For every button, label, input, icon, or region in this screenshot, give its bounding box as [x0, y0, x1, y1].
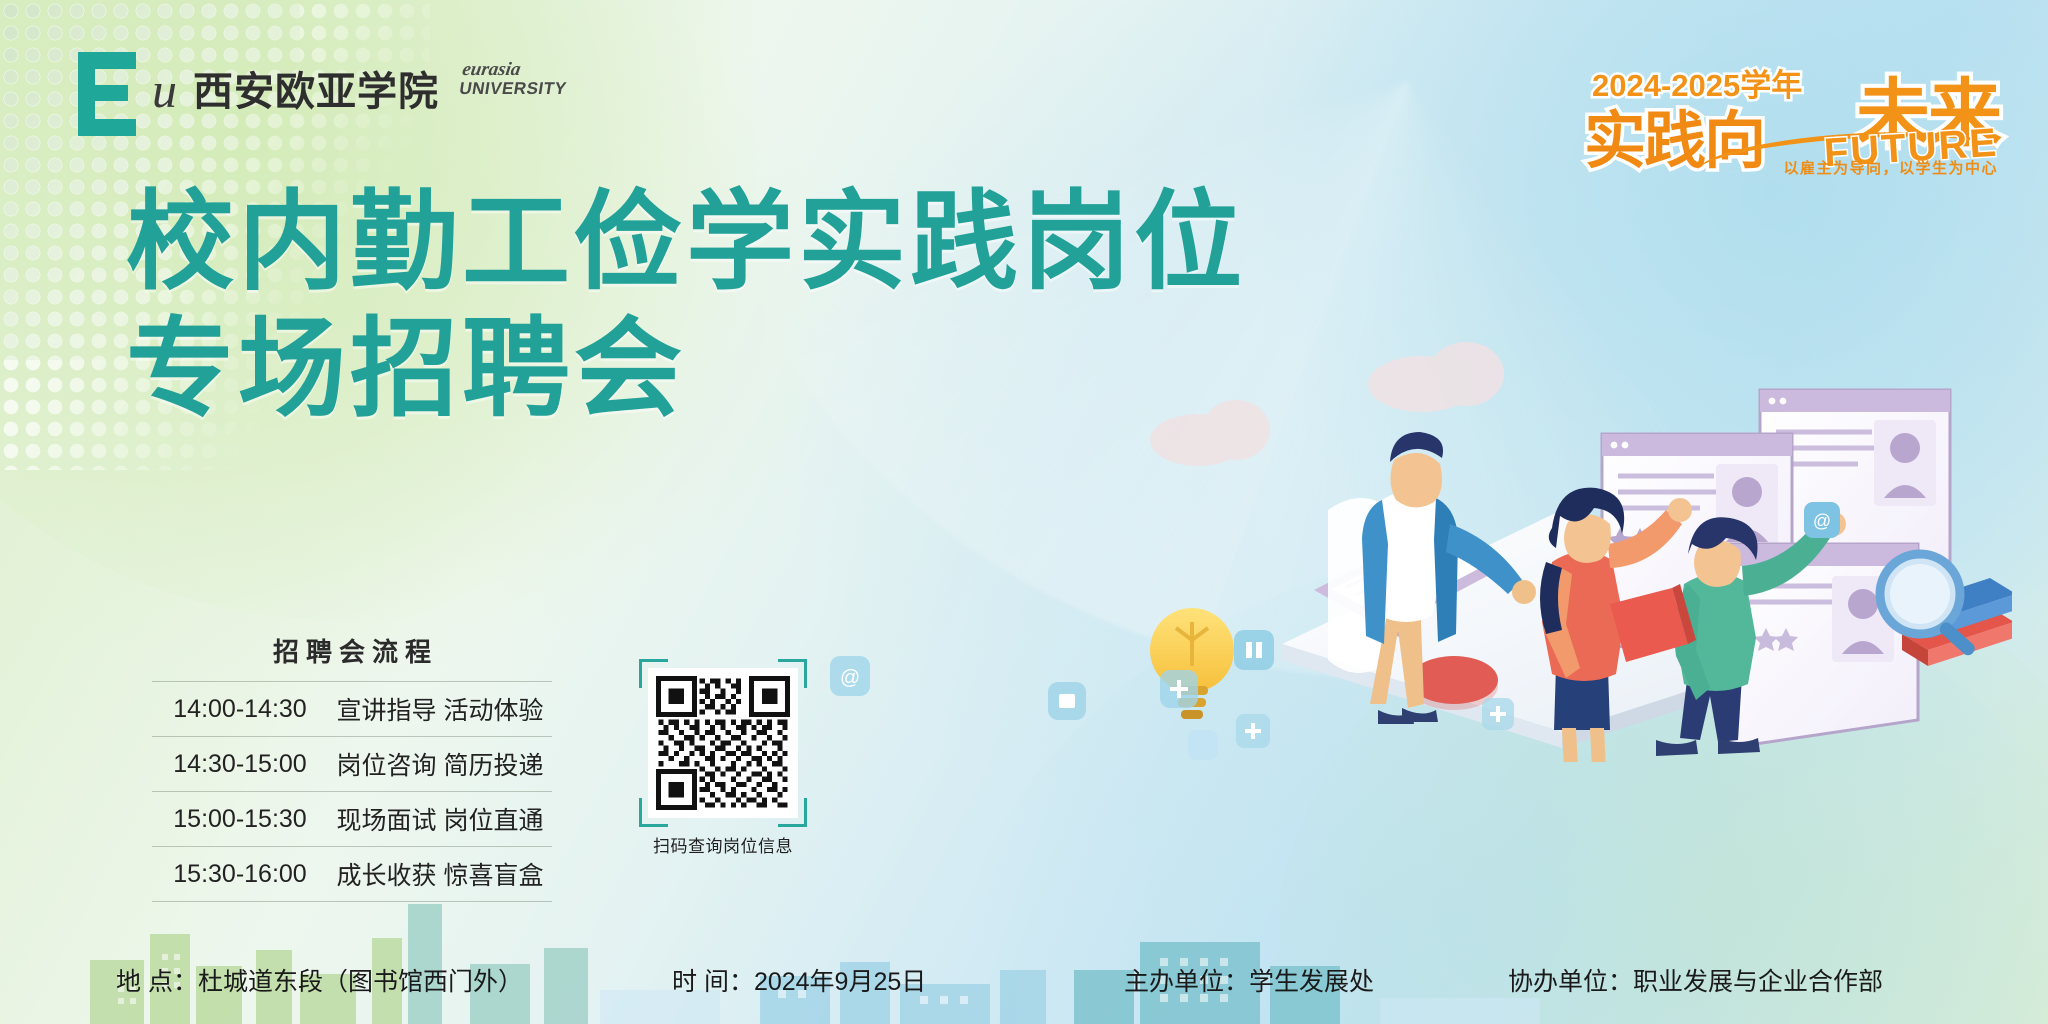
logo-e-mark: [78, 52, 136, 136]
schedule-time: 15:30-16:00: [152, 847, 328, 902]
svg-text:@: @: [840, 667, 860, 689]
footer-location: 地 点：杜城道东段（图书馆西门外）: [116, 962, 523, 998]
schedule-content: 现场面试 岗位直通: [328, 792, 552, 847]
schedule-time: 14:30-15:00: [152, 737, 328, 792]
schedule-block: 招聘会流程 14:00-14:30 宣讲指导 活动体验 14:30-15:00 …: [152, 632, 552, 902]
university-logo: u 西安欧亚学院 eurasia UNIVERSITY: [78, 52, 568, 136]
table-row: 14:00-14:30 宣讲指导 活动体验: [152, 682, 552, 737]
cloud-icon: [1150, 342, 1504, 466]
page-title-line2: 专场招聘会: [126, 305, 1246, 432]
footer-cohost: 协办单位：职业发展与企业合作部: [1508, 962, 1883, 998]
page-title-line1: 校内勤工俭学实践岗位: [126, 178, 1246, 305]
hero-illustration: @: [1132, 262, 2012, 762]
schedule-content: 宣讲指导 活动体验: [328, 682, 552, 737]
schedule-time: 14:00-14:30: [152, 682, 328, 737]
schedule-time: 15:00-15:30: [152, 792, 328, 847]
schedule-table: 14:00-14:30 宣讲指导 活动体验 14:30-15:00 岗位咨询 简…: [152, 681, 552, 902]
footer-bar: 地 点：杜城道东段（图书馆西门外） 时 间：2024年9月25日 主办单位：学生…: [0, 928, 2048, 1024]
qr-block: 扫码查询岗位信息: [640, 668, 806, 857]
schedule-heading: 招聘会流程: [152, 632, 552, 669]
logo-name-cn: 西安欧亚学院: [193, 72, 439, 112]
table-row: 15:00-15:30 现场面试 岗位直通: [152, 792, 552, 847]
footer-time: 时 间：2024年9月25日: [672, 962, 926, 998]
schedule-content: 岗位咨询 简历投递: [328, 737, 552, 792]
footer-host: 主办单位：学生发展处: [1124, 962, 1374, 998]
logo-name-en-line1: eurasia: [461, 60, 571, 80]
page-title: 校内勤工俭学实践岗位 专场招聘会: [126, 178, 1246, 433]
qr-caption: 扫码查询岗位信息: [640, 832, 806, 857]
logo-name-en-line2: UNIVERSITY: [458, 80, 568, 98]
badge-tagline: 以雇主为导向，以学生为中心: [1783, 157, 1998, 178]
logo-name-en: eurasia UNIVERSITY: [458, 60, 571, 98]
qr-code[interactable]: [648, 668, 798, 818]
poster-canvas: u 西安欧亚学院 eurasia UNIVERSITY 2024-2025学年 …: [0, 0, 2048, 1024]
theme-badge: 2024-2025学年 实践向 未来 FUTURE 以雇主为导向，以学生为中心: [1584, 48, 2004, 174]
table-row: 14:30-15:00 岗位咨询 简历投递: [152, 737, 552, 792]
schedule-content: 成长收获 惊喜盲盒: [328, 847, 552, 902]
lightbulb-icon: [1150, 608, 1234, 719]
logo-script-u: u: [152, 65, 177, 115]
svg-text:@: @: [1813, 511, 1831, 531]
qr-code-image: [648, 668, 798, 818]
table-row: 15:30-16:00 成长收获 惊喜盲盒: [152, 847, 552, 902]
schedule-table-body: 14:00-14:30 宣讲指导 活动体验 14:30-15:00 岗位咨询 简…: [152, 682, 552, 902]
